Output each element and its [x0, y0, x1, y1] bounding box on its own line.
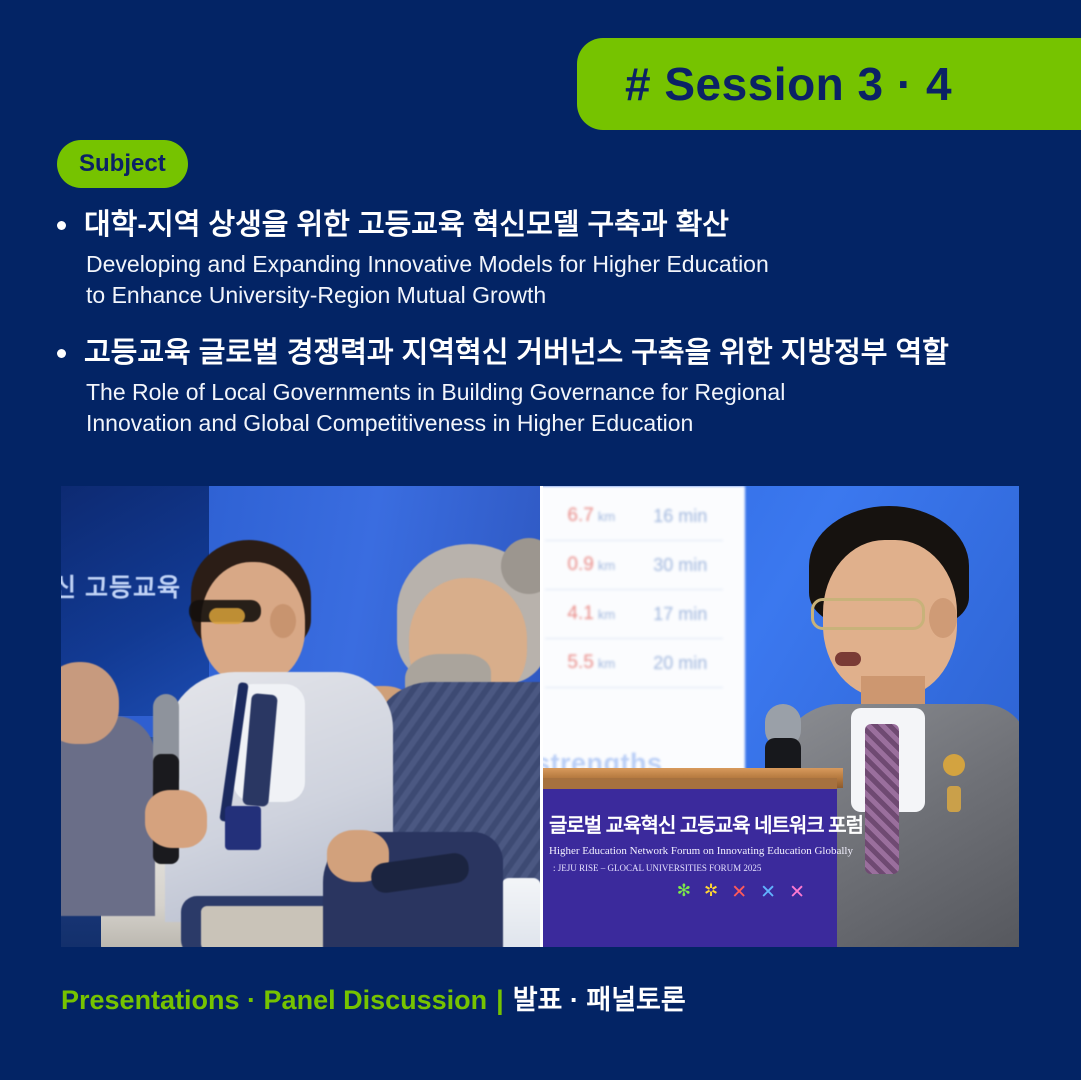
list-item: 대학-지역 상생을 위한 고등교육 혁신모델 구축과 확산 Developing…	[57, 205, 1067, 311]
list-item: 고등교육 글로벌 경쟁력과 지역혁신 거버넌스 구축을 위한 지방정부 역할 T…	[57, 333, 1067, 439]
podium-speaker-tie	[865, 724, 899, 874]
caption-english: Presentations · Panel Discussion	[61, 985, 487, 1016]
caption-divider: |	[496, 985, 504, 1016]
speaker-hand	[145, 790, 207, 848]
name-badge	[225, 806, 261, 850]
lapel-pin-icon	[943, 754, 965, 776]
slide-distance: 6.7	[567, 505, 593, 526]
table-row: 4.1km 17 min	[545, 590, 723, 639]
subject-badge: Subject	[57, 140, 188, 188]
slide-time: 17 min	[638, 604, 723, 625]
subject-title-ko: 고등교육 글로벌 경쟁력과 지역혁신 거버넌스 구축을 위한 지방정부 역할	[84, 333, 949, 373]
bullet-icon	[57, 349, 66, 358]
photo-podium-speaker: 6.7km 16 min 0.9km 30 min 4.1km 17 min 5…	[540, 486, 1019, 947]
slide-distance: 5.5	[567, 652, 593, 673]
slide-unit: km	[598, 558, 615, 573]
slide-unit: km	[598, 607, 615, 622]
person-far-left-body	[61, 716, 155, 916]
logo-pink-icon: ✕	[789, 881, 805, 904]
slide-time: 30 min	[638, 555, 723, 576]
glasses-lens	[209, 608, 245, 624]
subject-title-row: 고등교육 글로벌 경쟁력과 지역혁신 거버넌스 구축을 위한 지방정부 역할	[57, 333, 1067, 373]
speaker-ear	[270, 604, 296, 638]
lapel-badge-icon	[947, 786, 961, 812]
session-banner: # Session 3 · 4	[577, 38, 1081, 130]
session-banner-label: # Session 3 · 4	[625, 57, 952, 111]
logo-yellow-icon: ✲	[704, 881, 718, 904]
podium-speaker-mouth	[835, 652, 861, 666]
slide-distance: 0.9	[567, 554, 593, 575]
subject-title-ko: 대학-지역 상생을 위한 고등교육 혁신모델 구축과 확산	[84, 205, 729, 245]
subject-list: 대학-지역 상생을 위한 고등교육 혁신모델 구축과 확산 Developing…	[57, 205, 1067, 461]
bullet-icon	[57, 221, 66, 230]
slide-unit: km	[598, 656, 615, 671]
photo-panel-discussion: 신 고등교육	[61, 486, 540, 947]
podium-speaker-ear	[929, 598, 957, 638]
subject-title-en: Developing and Expanding Innovative Mode…	[86, 249, 1067, 311]
subject-title-row: 대학-지역 상생을 위한 고등교육 혁신모델 구축과 확산	[57, 205, 1067, 245]
subject-badge-label: Subject	[79, 150, 166, 178]
projected-slide: 6.7km 16 min 0.9km 30 min 4.1km 17 min 5…	[540, 486, 745, 776]
table-row: 0.9km 30 min	[545, 541, 723, 590]
slide-time: 16 min	[638, 506, 723, 527]
logo-green-icon: ✻	[677, 881, 691, 904]
slide-distance: 4.1	[567, 603, 593, 624]
glasses-icon	[811, 598, 925, 630]
water-bottle	[501, 878, 540, 947]
podium-sign-subtitle: : JEJU RISE – GLOCAL UNIVERSITIES FORUM …	[549, 863, 811, 873]
podium-sign: 글로벌 교육혁신 고등교육 네트워크 포럼 Higher Education N…	[543, 803, 817, 914]
photo-strip: 신 고등교육	[61, 486, 1019, 947]
subject-title-en: The Role of Local Governments in Buildin…	[86, 377, 1067, 439]
slide-unit: km	[598, 509, 615, 524]
table-row: 5.5km 20 min	[545, 639, 723, 688]
slide-table: 6.7km 16 min 0.9km 30 min 4.1km 17 min 5…	[545, 492, 723, 688]
table-row: 6.7km 16 min	[545, 492, 723, 541]
logo-blue-icon: ✕	[760, 881, 776, 904]
photo-caption: Presentations · Panel Discussion | 발표 · …	[61, 978, 686, 1017]
podium: 글로벌 교육혁신 고등교육 네트워크 포럼 Higher Education N…	[540, 778, 837, 947]
slide-time: 20 min	[638, 653, 723, 674]
caption-korean: 발표 · 패널토론	[513, 978, 686, 1017]
podium-sign-ko: 글로벌 교육혁신 고등교육 네트워크 포럼	[549, 809, 811, 838]
logo-red-icon: ✕	[731, 881, 747, 904]
podium-sign-logos: ✻ ✲ ✕ ✕ ✕	[549, 881, 811, 904]
photo-backdrop-text: 신 고등교육	[61, 568, 181, 604]
podium-sign-en: Higher Education Network Forum on Innova…	[549, 845, 811, 857]
